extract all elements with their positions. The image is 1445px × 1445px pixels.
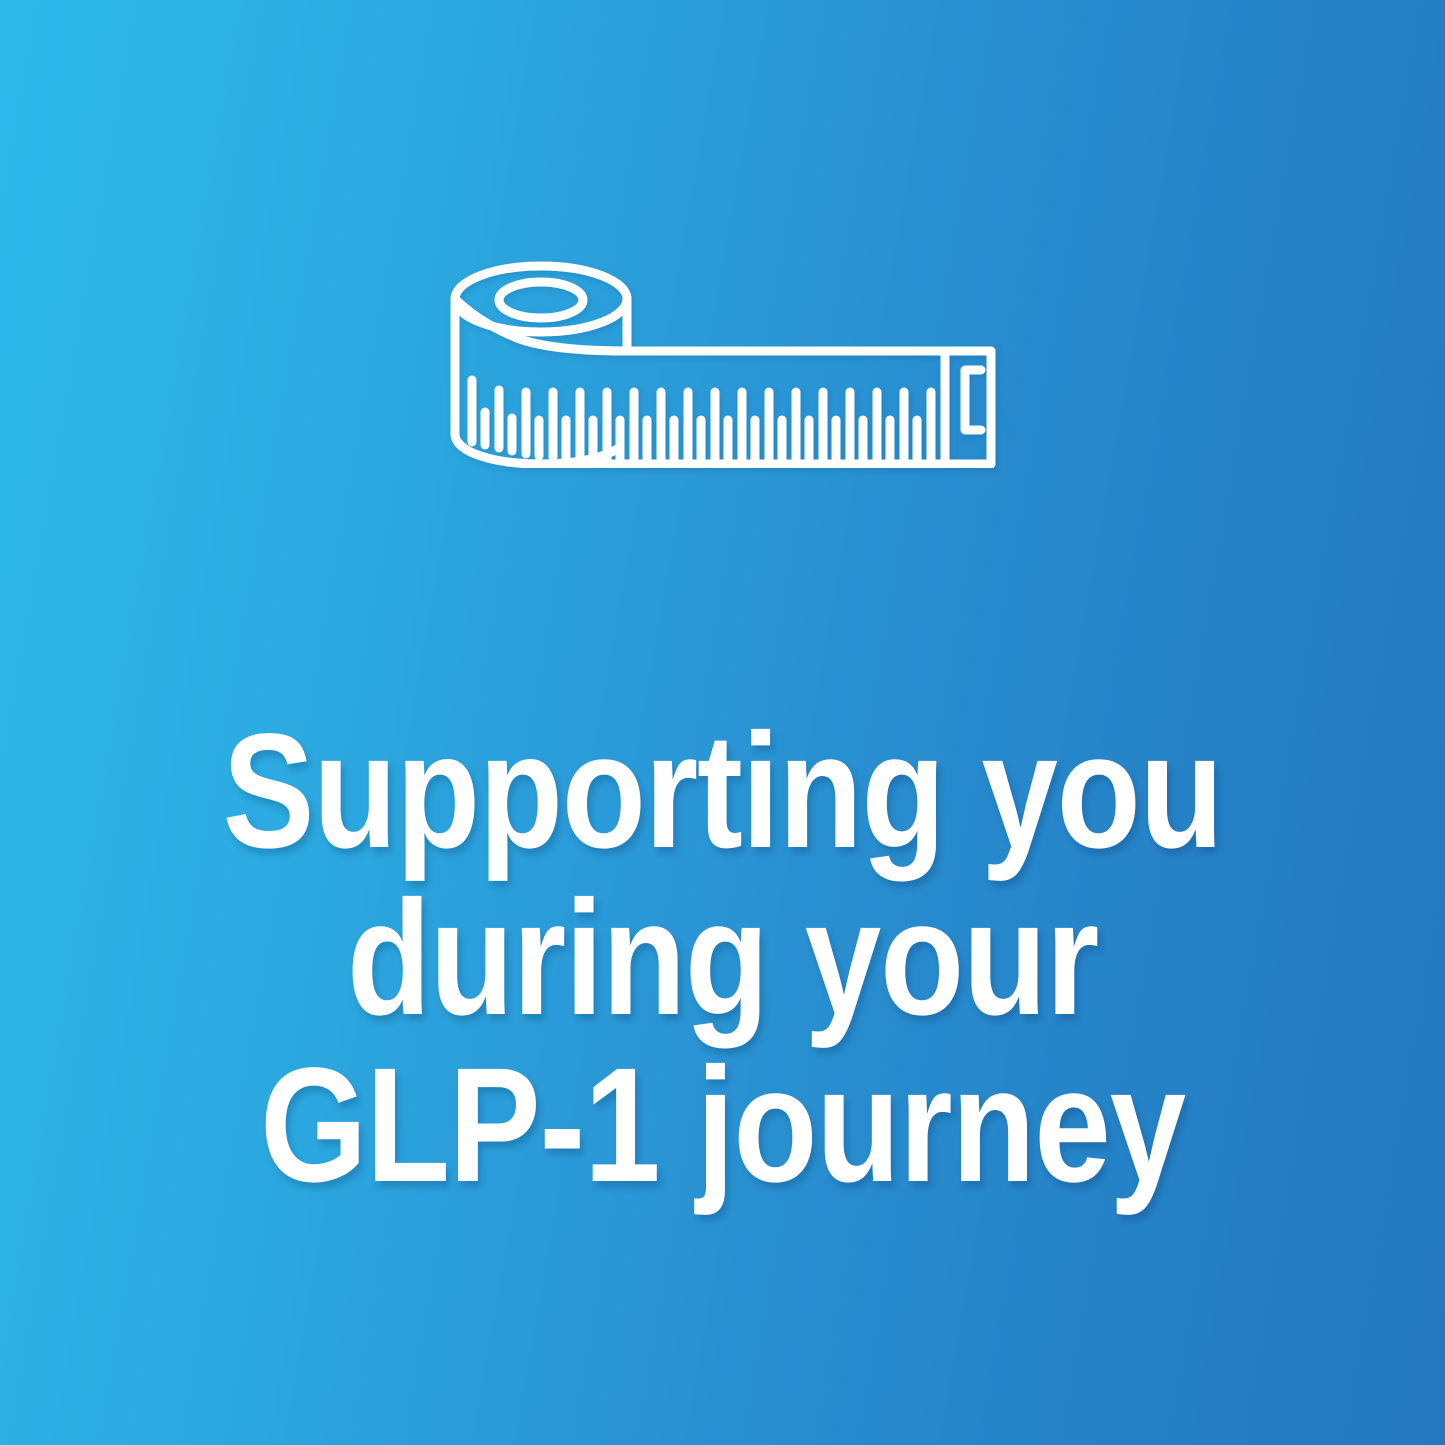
tape-roll-center-hole [499, 282, 583, 318]
tape-ruler-ticks [472, 380, 931, 461]
poster-canvas: Supporting you during your GLP-1 journey [0, 0, 1445, 1445]
tape-end-clip-hook [965, 370, 981, 430]
tape-roll-bottom-curve [455, 434, 617, 464]
measuring-tape-icon [425, 252, 1021, 468]
headline-line-3: GLP-1 journey [112, 1041, 1333, 1208]
headline-line-1: Supporting you [112, 707, 1333, 874]
tape-roll-outer-top-ellipse [455, 266, 627, 332]
measuring-tape-graphic [425, 252, 1021, 468]
tape-roll-inner-coil [455, 299, 627, 351]
headline-line-2: during your [112, 874, 1333, 1041]
page-headline: Supporting you during your GLP-1 journey [112, 707, 1333, 1208]
